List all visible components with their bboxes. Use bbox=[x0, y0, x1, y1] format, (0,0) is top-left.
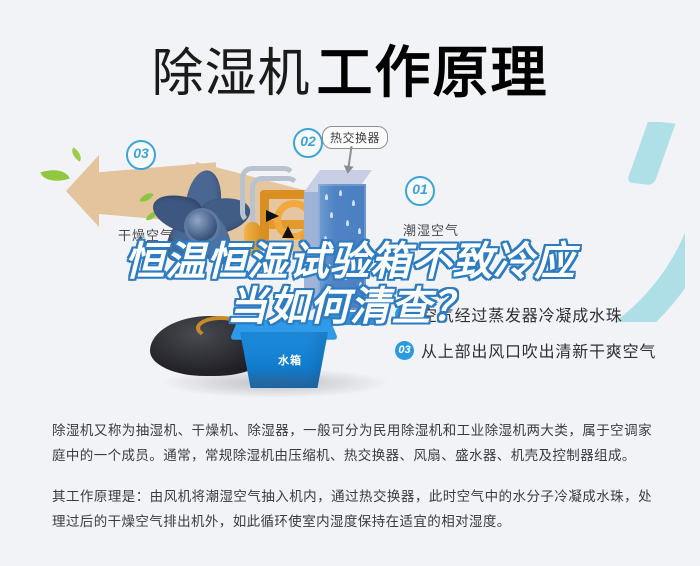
article-body: 除湿机又称为抽湿机、干燥机、除湿器，一般可分为民用除湿机和工业除湿机两大类，属于… bbox=[52, 418, 652, 534]
title-light-part: 除湿机 bbox=[151, 45, 310, 103]
article-page: 除湿机工作原理 bbox=[0, 0, 700, 566]
callout-number-03: 03 bbox=[126, 140, 156, 170]
leaf-icon bbox=[69, 147, 85, 161]
step-text-03: 从上部出风口吹出清新干爽空气 bbox=[421, 338, 656, 362]
callout-label-dry-air: 干燥空气 bbox=[118, 225, 174, 244]
step-badge-03: 03 bbox=[395, 341, 414, 360]
heat-exchanger-icon bbox=[312, 162, 368, 312]
callout-label-humid-air: 潮湿空气 bbox=[403, 220, 459, 239]
leaf-icon bbox=[40, 164, 69, 186]
body-paragraph-2: 其工作原理是：由风机将潮湿空气抽入机内，通过热交换器，此时空气中的水分子冷凝成水… bbox=[52, 484, 652, 534]
dehumidifier-diagram: 水箱 01 02 03 潮湿空气 干燥空气 热交换器 02 空气经过蒸发器冷凝成… bbox=[0, 120, 700, 405]
step-item-02: 02 空气经过蒸发器冷凝成水珠 bbox=[395, 302, 623, 326]
page-title: 除湿机工作原理 bbox=[0, 28, 700, 109]
step-badge-02: 02 bbox=[395, 305, 414, 324]
step-item-03: 03 从上部出风口吹出清新干爽空气 bbox=[395, 338, 656, 362]
title-bold-part: 工作原理 bbox=[317, 41, 549, 104]
air-intake-arrow-icon bbox=[330, 312, 382, 325]
water-tank-label: 水箱 bbox=[278, 352, 302, 368]
step-text-02: 空气经过蒸发器冷凝成水珠 bbox=[421, 302, 623, 326]
body-paragraph-1: 除湿机又称为抽湿机、干燥机、除湿器，一般可分为民用除湿机和工业除湿机两大类，属于… bbox=[52, 418, 652, 468]
callout-number-02: 02 bbox=[293, 128, 323, 158]
callout-number-01: 01 bbox=[405, 176, 435, 206]
drop-shadow bbox=[160, 368, 390, 398]
callout-label-heat-exchanger: 热交换器 bbox=[322, 126, 388, 149]
